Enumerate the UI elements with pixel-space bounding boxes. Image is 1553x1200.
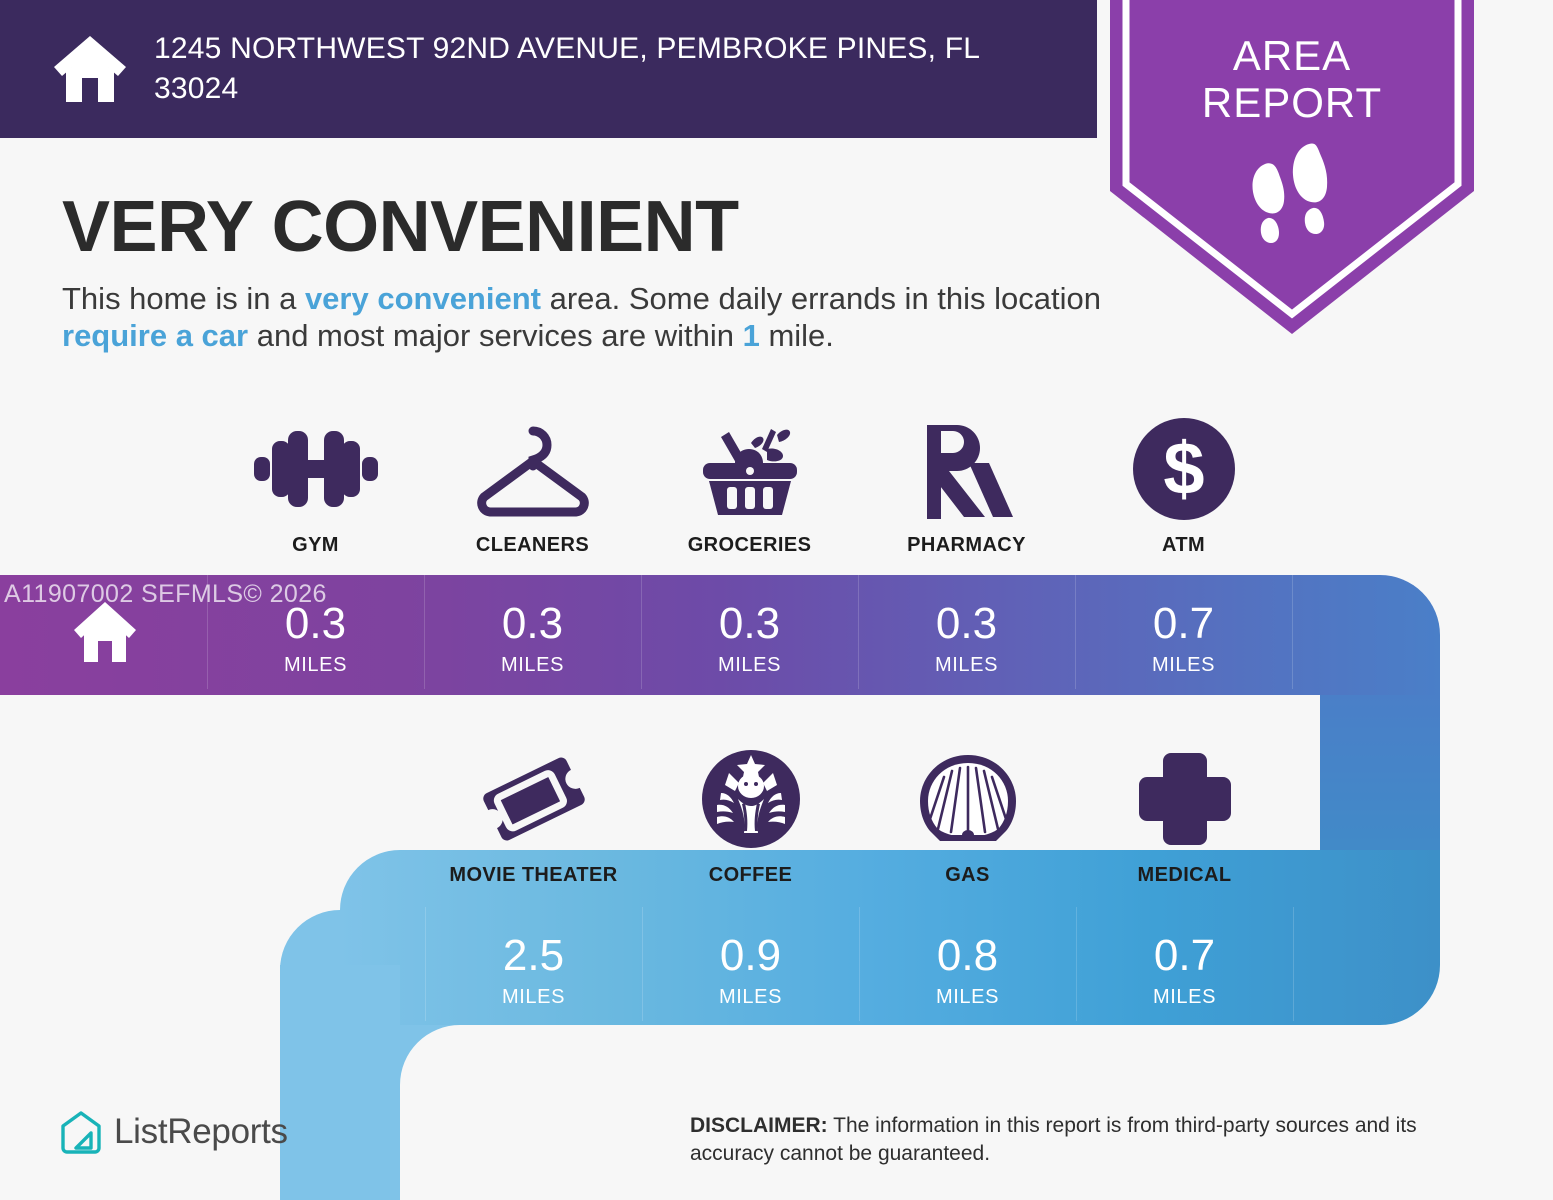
amenity-label: GROCERIES	[688, 534, 812, 557]
distance-unit: MILES	[207, 655, 424, 675]
distance-unit: MILES	[641, 655, 858, 675]
basket-icon	[691, 418, 809, 520]
distance-value: 0.7	[1076, 934, 1293, 978]
badge-label: AREA REPORT	[1110, 32, 1474, 126]
dumbbell-icon	[250, 418, 382, 520]
summary-part-3: and most major services are within	[248, 318, 742, 353]
amenity-coffee: COFFEE	[642, 748, 859, 887]
distance-unit: MILES	[1075, 655, 1292, 675]
distance-atm: 0.7 MILES	[1075, 602, 1292, 675]
amenity-label: GAS	[945, 864, 990, 887]
amenity-pharmacy: PHARMACY	[858, 418, 1075, 557]
badge-line-2: REPORT	[1110, 79, 1474, 126]
summary-highlight-1: very convenient	[305, 281, 541, 316]
segment-divider	[641, 573, 642, 689]
amenity-atm: $ ATM	[1075, 418, 1292, 557]
distance-unit: MILES	[642, 987, 859, 1007]
home-icon	[52, 34, 128, 104]
page-title: VERY CONVENIENT	[62, 186, 739, 268]
segment-divider	[1075, 573, 1076, 689]
disclaimer: DISCLAIMER: The information in this repo…	[690, 1112, 1500, 1168]
svg-text:$: $	[1163, 427, 1204, 510]
distance-unit: MILES	[1076, 987, 1293, 1007]
segment-divider	[1076, 907, 1077, 1021]
summary-highlight-2: require a car	[62, 318, 248, 353]
summary-part-1: This home is in a	[62, 281, 305, 316]
amenity-medical: MEDICAL	[1076, 748, 1293, 887]
segment-divider	[858, 573, 859, 689]
home-marker-icon	[72, 600, 138, 664]
amenity-movie-theater: MOVIE THEATER	[425, 748, 642, 887]
amenity-label: ATM	[1162, 534, 1205, 557]
distance-unit: MILES	[859, 987, 1076, 1007]
listreports-house-icon	[60, 1110, 114, 1154]
segment-divider	[1293, 907, 1294, 1021]
mls-watermark: A11907002 SEFMLS© 2026	[4, 580, 327, 609]
summary-text: This home is in a very convenient area. …	[62, 281, 1102, 354]
distance-value: 0.8	[859, 934, 1076, 978]
segment-divider	[424, 573, 425, 689]
distance-coffee: 0.9 MILES	[642, 934, 859, 1007]
amenity-label: PHARMACY	[907, 534, 1026, 557]
segment-divider	[1292, 573, 1293, 689]
distance-value: 0.9	[642, 934, 859, 978]
amenity-cleaners: CLEANERS	[424, 418, 641, 557]
distance-value: 2.5	[425, 934, 642, 978]
disclaimer-label: DISCLAIMER:	[690, 1114, 828, 1137]
amenity-label: MEDICAL	[1138, 864, 1232, 887]
distance-gas: 0.8 MILES	[859, 934, 1076, 1007]
summary-part-2: area. Some daily errands in this locatio…	[541, 281, 1101, 316]
distance-value: 0.3	[641, 602, 858, 646]
amenity-row-2: MOVIE THEATER	[425, 748, 1295, 887]
brand-name: ListReports	[114, 1112, 288, 1152]
listreports-brand: ListReports	[60, 1110, 288, 1154]
distance-value: 0.7	[1075, 602, 1292, 646]
address-header: 1245 NORTHWEST 92ND AVENUE, PEMBROKE PIN…	[0, 0, 1097, 138]
distance-groceries: 0.3 MILES	[641, 602, 858, 675]
distance-cleaners: 0.3 MILES	[424, 602, 641, 675]
rx-icon	[917, 418, 1017, 520]
address-text: 1245 NORTHWEST 92ND AVENUE, PEMBROKE PIN…	[154, 29, 1054, 108]
dollar-circle-icon: $	[1133, 418, 1235, 520]
distance-unit: MILES	[858, 655, 1075, 675]
distance-unit: MILES	[424, 655, 641, 675]
amenity-label: MOVIE THEATER	[449, 864, 617, 887]
badge-line-1: AREA	[1110, 32, 1474, 79]
amenity-label: COFFEE	[709, 864, 793, 887]
amenity-gas: GAS	[859, 748, 1076, 887]
segment-divider	[859, 907, 860, 1021]
starbucks-icon	[701, 748, 801, 850]
medical-cross-icon	[1137, 748, 1233, 850]
amenity-groceries: GROCERIES	[641, 418, 858, 557]
amenity-gym: GYM	[207, 418, 424, 557]
distance-pharmacy: 0.3 MILES	[858, 602, 1075, 675]
distance-medical: 0.7 MILES	[1076, 934, 1293, 1007]
segment-divider	[425, 907, 426, 1021]
distance-movie-theater: 2.5 MILES	[425, 934, 642, 1007]
summary-highlight-3: 1	[743, 318, 760, 353]
segment-divider	[642, 907, 643, 1021]
amenity-label: CLEANERS	[476, 534, 589, 557]
hanger-icon	[468, 418, 598, 520]
distance-value: 0.3	[424, 602, 641, 646]
ticket-icon	[482, 748, 586, 850]
summary-part-4: mile.	[760, 318, 834, 353]
amenity-row-1: GYM CLEANERS	[207, 418, 1317, 557]
shell-icon	[918, 748, 1018, 850]
distance-gym: 0.3 MILES	[207, 602, 424, 675]
distance-value: 0.3	[858, 602, 1075, 646]
distance-unit: MILES	[425, 987, 642, 1007]
area-report-badge: AREA REPORT	[1110, 0, 1474, 336]
amenity-label: GYM	[292, 534, 339, 557]
